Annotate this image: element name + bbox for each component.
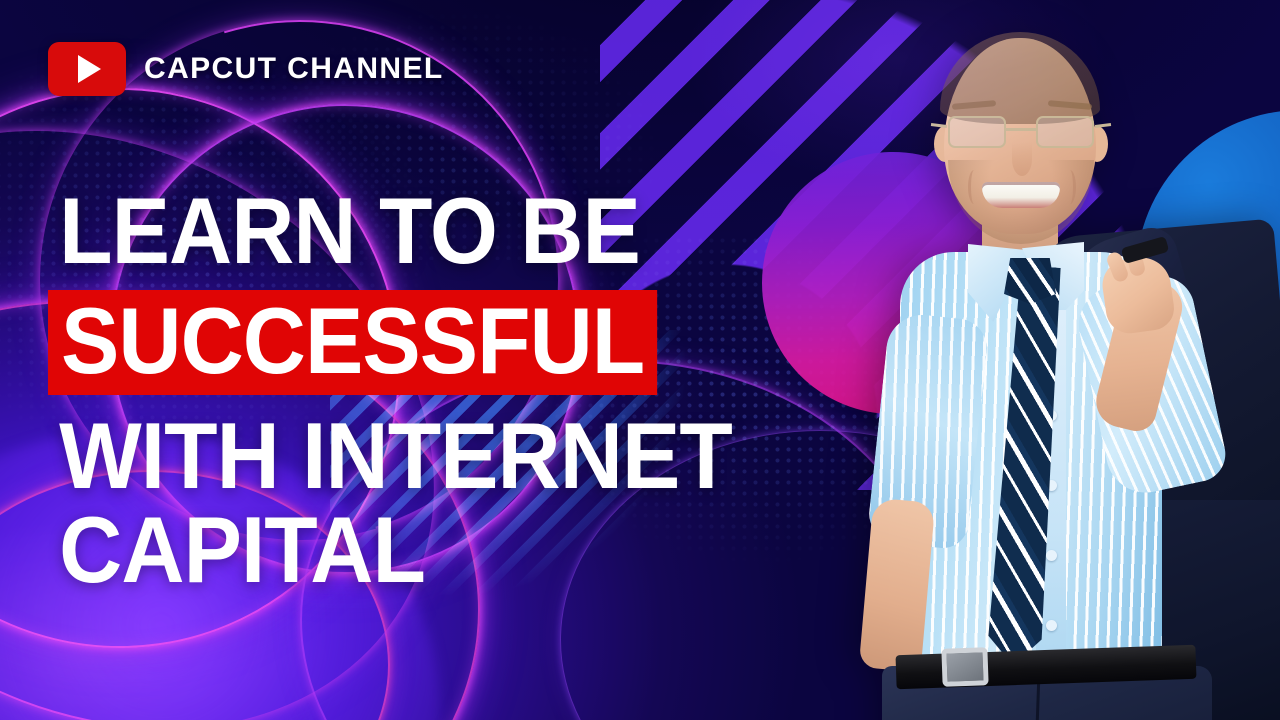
youtube-thumbnail: CAPCUT CHANNEL LEARN TO BE SUCCESSFUL WI… bbox=[0, 0, 1280, 720]
shirt-button bbox=[1046, 550, 1057, 561]
glasses-temple-left bbox=[931, 123, 947, 127]
shirt-button bbox=[1046, 620, 1057, 631]
headline-line-2: SUCCESSFUL bbox=[61, 300, 644, 383]
glasses-bridge bbox=[1006, 128, 1036, 131]
smile-line-left bbox=[968, 170, 980, 204]
lens-right bbox=[1036, 116, 1094, 148]
presenter-photo bbox=[822, 30, 1280, 720]
belt-buckle bbox=[941, 647, 988, 687]
headline-block: LEARN TO BE SUCCESSFUL WITH INTERNET CAP… bbox=[48, 186, 848, 595]
smile-line-right bbox=[1064, 170, 1076, 204]
headline-line-1: LEARN TO BE bbox=[48, 186, 792, 276]
play-triangle-icon bbox=[78, 55, 101, 83]
hair bbox=[940, 32, 1100, 124]
lens-left bbox=[948, 116, 1006, 148]
channel-branding[interactable]: CAPCUT CHANNEL bbox=[48, 42, 444, 96]
channel-name-label: CAPCUT CHANNEL bbox=[144, 52, 444, 86]
smiling-mouth bbox=[982, 182, 1060, 208]
headline-line-4: CAPITAL bbox=[48, 505, 792, 595]
eyeglasses bbox=[946, 116, 1096, 150]
headline-highlight-box: SUCCESSFUL bbox=[48, 290, 657, 395]
glasses-temple-right bbox=[1095, 123, 1111, 127]
youtube-play-icon[interactable] bbox=[48, 42, 126, 96]
headline-line-3: WITH INTERNET bbox=[48, 411, 792, 501]
